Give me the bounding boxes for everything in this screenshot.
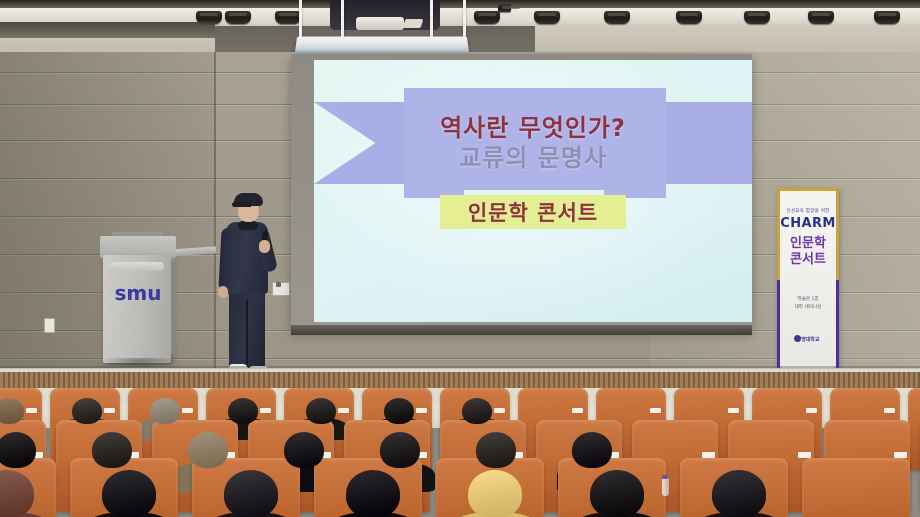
recessed-spotlight [676, 11, 702, 24]
recessed-spotlight [474, 11, 500, 24]
seat-number-tag [416, 408, 427, 413]
projection-screen: 역사란 무엇인가? 교류의 문명사 인문학 콘서트 [314, 60, 752, 322]
upper-wall-recess-left [0, 22, 215, 38]
projector-lens-hood-icon [403, 19, 424, 28]
seat-number-tag [104, 408, 115, 413]
audience-member-head [92, 432, 132, 468]
seat-number-tag [494, 408, 505, 413]
seat-number-tag [260, 408, 271, 413]
podium-smu-logo: smu [110, 281, 166, 305]
recessed-spotlight [874, 11, 900, 24]
audience-member-head [224, 470, 278, 517]
event-banner-stand: 인성교육 함양을 위한 CHARM 인문학 콘서트 학술관 1층 대학 세미나실… [777, 188, 839, 376]
audience-member-head [590, 470, 644, 517]
recessed-spotlight [744, 11, 770, 24]
audience-member-head [346, 470, 400, 517]
audience-member-head [712, 470, 766, 517]
projector-lens-icon [356, 17, 404, 30]
banner-kicker-text: 인성교육 함양을 위한 [777, 208, 839, 214]
banner-purple-left-edge [777, 280, 780, 368]
auditorium-seat[interactable] [802, 458, 910, 517]
recessed-spotlight [498, 4, 511, 12]
audience-member-head [462, 398, 492, 424]
banner-info-line2: 대학 세미나실 [777, 304, 839, 310]
recessed-spotlight [225, 11, 251, 24]
wall-outlet-left [44, 318, 55, 333]
audience-member-head [380, 432, 420, 468]
slide-title-line2: 교류의 문명사 [314, 138, 752, 173]
projector-rod-right [463, 0, 466, 40]
speaker-hand-right [259, 240, 270, 253]
projector-rod-left [299, 0, 302, 40]
banner-gold-top-edge [777, 188, 839, 191]
speaker-cap-brim [232, 202, 251, 207]
speaker-leg-seam [246, 300, 248, 368]
audience-member-head [284, 432, 324, 468]
recessed-spotlight [534, 11, 560, 24]
seat-number-tag [806, 408, 817, 413]
wall-column-edge [214, 52, 216, 372]
audience-member-head [306, 398, 336, 424]
banner-info-line1: 학술관 1층 [777, 296, 839, 302]
wall-outlet-center [272, 282, 290, 296]
seat-number-tag [26, 408, 37, 413]
audience-member-head [228, 398, 258, 424]
slide-subtitle-badge-text: 인문학 콘서트 [468, 197, 598, 227]
audience-member-head [0, 432, 36, 468]
projector-rod-midleft [341, 0, 344, 40]
audience-member-head [476, 432, 516, 468]
recessed-spotlight [604, 11, 630, 24]
slide-subtitle-badge: 인문학 콘서트 [440, 195, 626, 229]
seat-number-tag [650, 408, 661, 413]
banner-university-text: 상명대학교 [777, 336, 839, 343]
audience-member-head [468, 470, 522, 517]
screen-bottom-edge [291, 325, 752, 335]
seat-number-tag [572, 408, 583, 413]
audience-member-head [572, 432, 612, 468]
banner-purple-right-edge [836, 280, 839, 368]
speaker-collar [238, 221, 258, 230]
recessed-spotlight [808, 11, 834, 24]
audience-member-head [384, 398, 414, 424]
seat-number-tag [338, 408, 349, 413]
projector-mount-tray [295, 37, 469, 53]
wall-outlet-center-socket [276, 282, 281, 287]
projector-rod-midright [430, 0, 433, 40]
recessed-spotlight [275, 11, 301, 24]
seat-number-tag [884, 408, 895, 413]
podium-front-lip [110, 262, 164, 271]
seat-back-slats [0, 372, 920, 388]
audience-member-head [188, 432, 228, 468]
banner-heading-line2: 콘서트 [777, 248, 839, 267]
banner-brand-text: CHARM [777, 216, 839, 231]
seat-number-tag [728, 408, 739, 413]
audience-member-head [72, 398, 102, 424]
water-bottle [662, 478, 669, 496]
auditorium-photo: 역사란 무엇인가? 교류의 문명사 인문학 콘서트 smu 인성교육 함양을 위… [0, 0, 920, 517]
water-bottle-cap [662, 475, 668, 479]
audience-member-head [150, 398, 180, 424]
seat-number-tag [182, 408, 193, 413]
speaker-hand-left [218, 286, 228, 298]
podium [103, 255, 171, 363]
audience-member-head [102, 470, 156, 517]
